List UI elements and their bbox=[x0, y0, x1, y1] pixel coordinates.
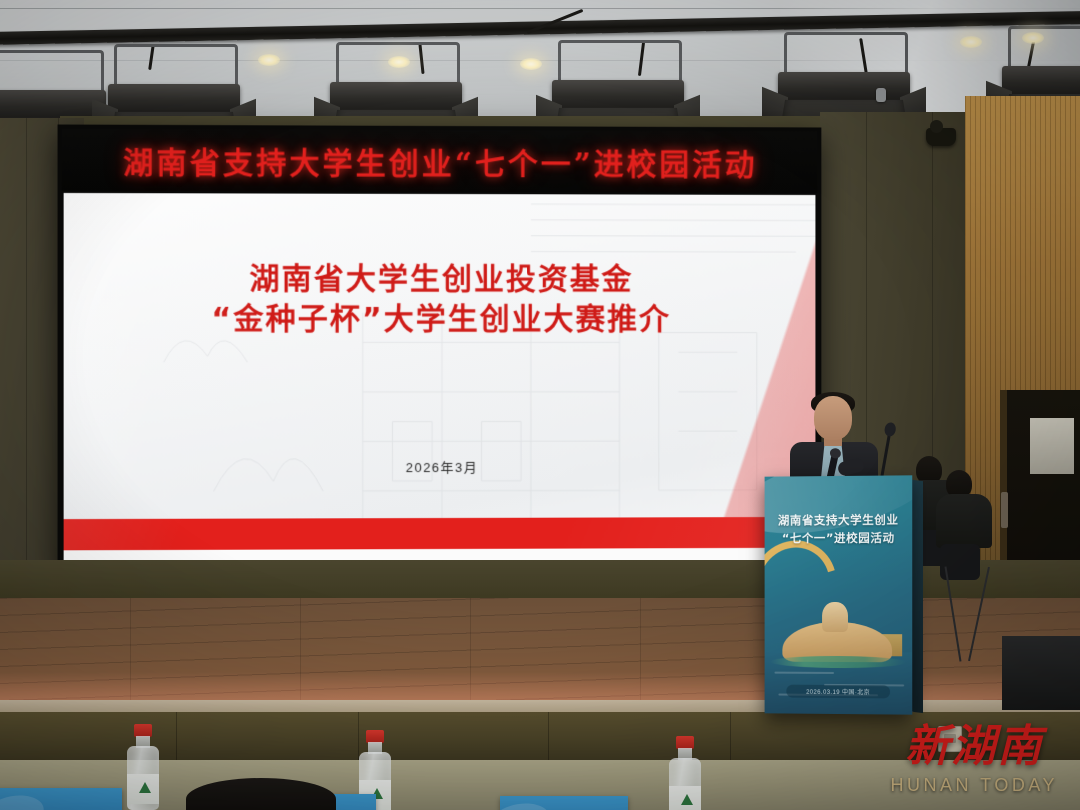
presentation-slide: 湖南省大学生创业投资基金 “金种子杯”大学生创业大赛推介 2026年3月 bbox=[64, 193, 816, 568]
ceiling-sensor bbox=[876, 88, 886, 102]
wall-camera-icon bbox=[926, 128, 956, 146]
name-card bbox=[0, 788, 122, 810]
photo-scene: 湖南省支持大学生创业“七个一”进校园活动 湖南省大学生创业投资基金 bbox=[0, 0, 1080, 810]
podium-banner-line1: 湖南省支持大学生创业 bbox=[765, 512, 913, 531]
door-notice-paper bbox=[1030, 418, 1074, 474]
slide-red-band bbox=[64, 517, 816, 550]
podium-banner-text: 湖南省支持大学生创业 “七个一”进校园活动 bbox=[765, 512, 913, 548]
led-display-screen: 湖南省支持大学生创业“七个一”进校园活动 湖南省大学生创业投资基金 bbox=[58, 125, 822, 575]
ceiling-downlight bbox=[258, 54, 280, 66]
podium-front-panel: 湖南省支持大学生创业 “七个一”进校园活动 2026.03.19 中国·北京 bbox=[765, 475, 913, 714]
slide-date: 2026年3月 bbox=[64, 456, 816, 477]
ceiling-downlight bbox=[388, 56, 410, 68]
speaker-head bbox=[814, 396, 852, 440]
watermark-english: HUNAN TODAY bbox=[890, 775, 1058, 796]
screen-banner-strip: 湖南省支持大学生创业“七个一”进校园活动 bbox=[62, 129, 818, 193]
podium-date-text: 2026.03.19 中国·北京 bbox=[806, 687, 870, 696]
ceiling-downlight bbox=[960, 36, 982, 48]
water-bottle bbox=[126, 724, 160, 810]
ceiling-downlight bbox=[520, 58, 542, 70]
podium-statue-graphic bbox=[822, 602, 848, 632]
name-card bbox=[500, 796, 628, 810]
equipment-case bbox=[1002, 636, 1080, 710]
podium-date-bar: 2026.03.19 中国·北京 bbox=[786, 685, 890, 699]
door-handle[interactable] bbox=[1001, 492, 1008, 528]
slide-title-line1: 湖南省大学生创业投资基金 bbox=[249, 262, 633, 297]
slide-title: 湖南省大学生创业投资基金 “金种子杯”大学生创业大赛推介 bbox=[64, 259, 816, 340]
slide-title-line2: “金种子杯”大学生创业大赛推介 bbox=[64, 300, 816, 341]
speaker-person bbox=[786, 392, 882, 488]
watermark-chinese: 新湖南 bbox=[890, 725, 1058, 769]
ceiling-downlight bbox=[1022, 32, 1044, 44]
podium-banner-line2: “七个一”进校园活动 bbox=[765, 529, 913, 547]
watermark: 新湖南 HUNAN TODAY bbox=[890, 725, 1058, 796]
screen-banner-text: 湖南省支持大学生创业“七个一”进校园活动 bbox=[123, 138, 757, 184]
water-bottle bbox=[668, 736, 702, 810]
